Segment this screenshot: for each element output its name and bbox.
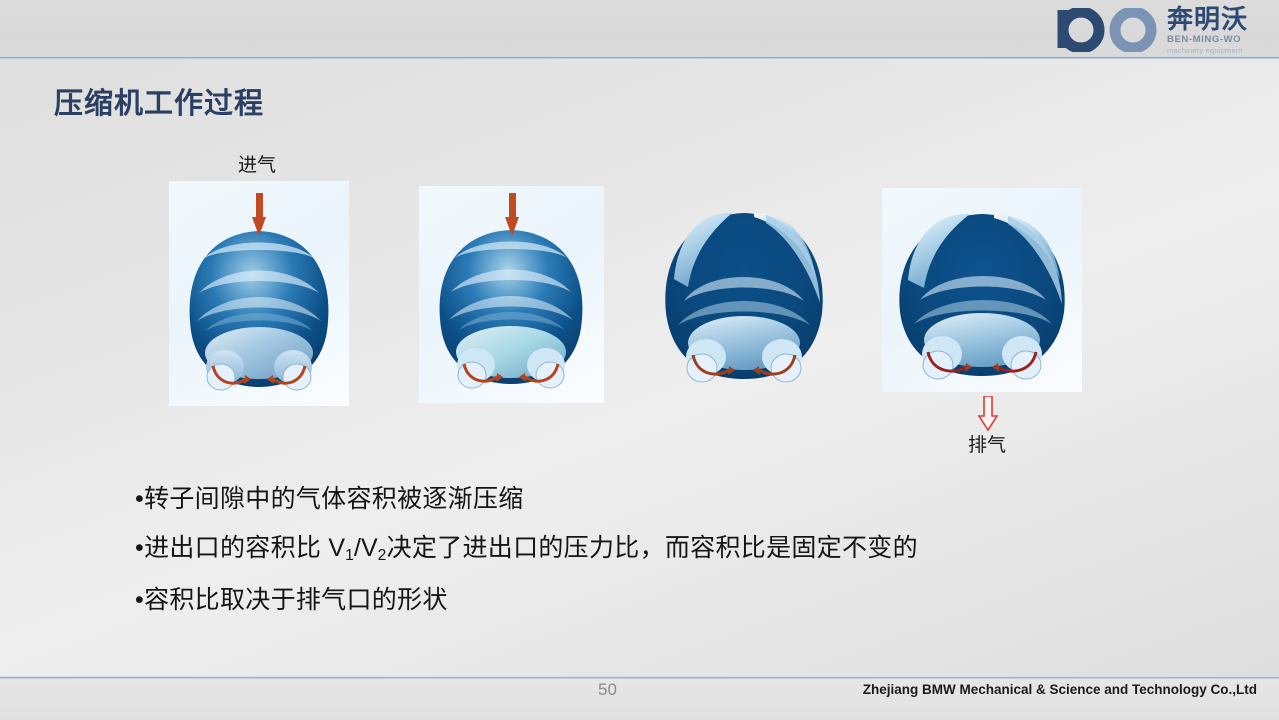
intake-arrow-icon-2 — [505, 193, 519, 237]
bullet-list: •转子间隙中的气体容积被逐渐压缩 •进出口的容积比 V1/V2决定了进出口的压力… — [135, 475, 1135, 625]
volume-ratio-v1: V — [328, 534, 345, 562]
slide: 奔明沃 BEN-MING-WO machinery equipment 压缩机工… — [0, 0, 1279, 720]
exhaust-label: 排气 — [968, 430, 1006, 457]
rotor-illustration-3 — [648, 183, 840, 398]
bullet-text: 转子间隙中的气体容积被逐渐压缩 — [144, 485, 524, 513]
bullet-marker: • — [135, 524, 144, 573]
header-divider — [0, 56, 1279, 59]
company-logo: 奔明沃 BEN-MING-WO machinery equipment — [1049, 2, 1271, 56]
logo-wordmark: 奔明沃 BEN-MING-WO machinery equipment — [1167, 4, 1271, 56]
intake-arrow-icon-1 — [252, 193, 266, 237]
bullet-text: 容积比取决于排气口的形状 — [144, 586, 448, 614]
rotor-stage-2 — [419, 186, 604, 403]
volume-ratio-sub2: 2 — [378, 547, 387, 564]
logo-chinese-name: 奔明沃 — [1167, 4, 1271, 34]
bullet-text-prefix: 进出口的容积比 — [144, 534, 328, 562]
bullet-item-2: •进出口的容积比 V1/V2决定了进出口的压力比，而容积比是固定不变的 — [135, 524, 1135, 576]
rotor-stage-3 — [648, 183, 840, 398]
volume-ratio-v2: /V — [354, 534, 378, 562]
logo-english-name: BEN-MING-WO — [1167, 34, 1271, 46]
bullet-item-1: •转子间隙中的气体容积被逐渐压缩 — [135, 475, 1135, 524]
footer-company-name: Zhejiang BMW Mechanical & Science and Te… — [863, 682, 1257, 697]
logo-tagline: machinery equipment — [1167, 46, 1271, 56]
rotor-stage-4 — [882, 188, 1082, 392]
volume-ratio-sub1: 1 — [345, 547, 354, 564]
bo-monogram-icon — [1057, 8, 1169, 52]
rotor-stage-1 — [169, 181, 349, 406]
exhaust-arrow-icon — [976, 396, 1000, 432]
bullet-text-suffix: 决定了进出口的压力比，而容积比是固定不变的 — [387, 534, 918, 562]
page-number: 50 — [598, 680, 617, 700]
intake-label: 进气 — [238, 150, 276, 177]
bullet-marker: • — [135, 576, 144, 625]
page-title: 压缩机工作过程 — [54, 80, 264, 122]
bullet-marker: • — [135, 475, 144, 524]
bullet-item-3: •容积比取决于排气口的形状 — [135, 576, 1135, 625]
rotor-illustration-4 — [882, 188, 1082, 392]
